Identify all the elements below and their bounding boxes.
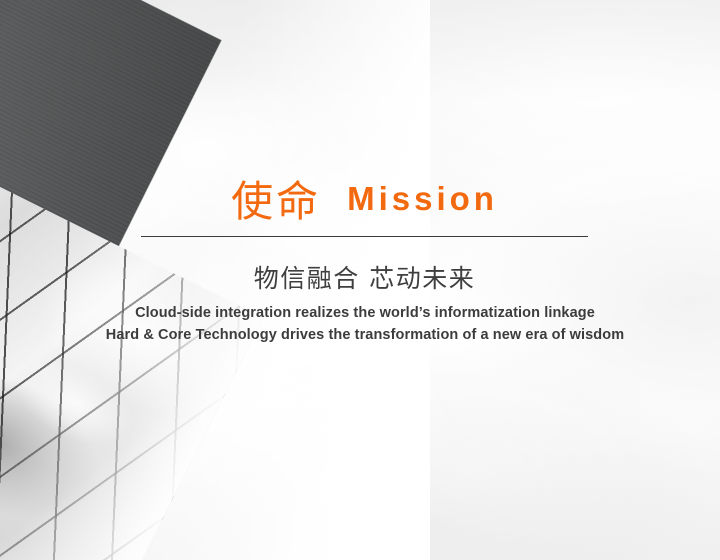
title-chinese: 使命 <box>231 177 321 226</box>
description-line-1: Cloud-side integration realizes the worl… <box>60 302 670 324</box>
subtitle-chinese: 物信融合 芯动未来 <box>141 259 588 295</box>
page-title: 使命Mission <box>141 168 588 229</box>
title-english: Mission <box>347 180 498 217</box>
title-divider <box>141 236 588 237</box>
description-line-2: Hard & Core Technology drives the transf… <box>60 324 670 346</box>
description-block: Cloud-side integration realizes the worl… <box>60 302 670 346</box>
banner-content: 使命Mission 物信融合 芯动未来 Cloud-side integrati… <box>0 0 720 560</box>
mission-banner: 使命Mission 物信融合 芯动未来 Cloud-side integrati… <box>0 0 720 560</box>
